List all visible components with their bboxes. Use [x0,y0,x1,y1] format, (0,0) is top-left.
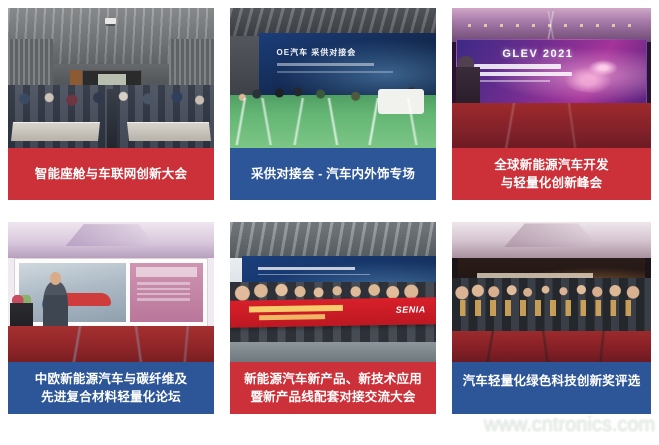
slide-bullet-4 [137,298,189,300]
slide-text-panel [130,263,203,322]
ceiling-fan-detail [520,11,584,39]
keynote-speaker-stage-photo[interactable] [8,222,214,362]
gallery-card-6-caption-text: 汽车轻量化绿色科技创新奖评选 [458,372,645,390]
matchmaking-session-photo[interactable]: OE汽车 采供对接会 [230,8,436,148]
gallery-card-1-caption-text: 智能座舱与车联网创新大会 [14,165,208,183]
slide-bullet-2 [137,288,189,290]
gallery-card-3[interactable]: GLEV 2021 全球新能源汽车开发 与轻量化创新峰会 [452,8,651,207]
group-photo-red-banner[interactable]: SENIA [230,222,436,362]
gallery-card-1[interactable]: 智能座舱与车联网创新大会 [8,8,214,207]
front-desk-left [11,122,100,141]
exhibition-floor [230,342,436,362]
red-ceremony-banner: SENIA [230,297,436,327]
projector-icon [105,18,116,24]
slide-bullet-3 [137,293,189,295]
glev-2021-stage-photo[interactable]: GLEV 2021 [452,8,651,148]
gallery-card-3-caption-line-2: 与轻量化创新峰会 [458,174,645,192]
gallery-card-4[interactable]: 中欧新能源汽车与碳纤维及 先进复合材料轻量化论坛 [8,222,214,421]
gallery-card-4-caption-line-2: 先进复合材料轻量化论坛 [14,388,208,406]
screen-graphic-swirl [555,51,638,92]
conference-hall-audience-photo[interactable] [8,8,214,148]
gallery-card-5[interactable]: SENIA 新能源汽车新产品、新技术应用 暨新产品线配套对接交流大会 [230,222,436,421]
gallery-card-3-caption-line-1: 全球新能源汽车开发 [458,156,645,174]
red-stage-floor [452,103,651,148]
gallery-card-6-caption[interactable]: 汽车轻量化绿色科技创新奖评选 [452,362,651,414]
gallery-card-2-caption-text: 采供对接会 - 汽车内外饰专场 [236,165,430,183]
backdrop-headline-text: OE汽车 采供对接会 [277,47,357,58]
gallery-card-5-caption-line-1: 新能源汽车新产品、新技术应用 [236,370,430,388]
gallery-card-4-caption-text: 中欧新能源汽车与碳纤维及 先进复合材料轻量化论坛 [14,370,208,406]
gallery-card-3-caption[interactable]: 全球新能源汽车开发 与轻量化创新峰会 [452,148,651,200]
slide-title-bar [136,267,197,276]
gallery-card-2[interactable]: OE汽车 采供对接会 采供对接会 - 汽车内外饰专场 [230,8,436,207]
ballroom-ceiling [452,222,651,258]
banner-subline [259,315,325,321]
folding-chairs [230,98,436,146]
gallery-card-2-caption[interactable]: 采供对接会 - 汽车内外饰专场 [230,148,436,200]
front-desk-right [126,122,210,141]
banner-headline [248,305,343,312]
backdrop-subline [258,274,370,275]
gallery-card-5-caption-text: 新能源汽车新产品、新技术应用 暨新产品线配套对接交流大会 [236,370,430,406]
glev-title-text: GLEV 2021 [502,48,573,60]
gallery-card-4-caption-line-1: 中欧新能源汽车与碳纤维及 [14,370,208,388]
hall-roof-trusses [230,222,436,258]
gallery-card-1-caption[interactable]: 智能座舱与车联网创新大会 [8,148,214,200]
award-ceremony-group-photo[interactable] [452,222,651,362]
screen-subline [474,80,550,82]
gallery-card-5-caption[interactable]: 新能源汽车新产品、新技术应用 暨新产品线配套对接交流大会 [230,362,436,414]
site-watermark: www.cntronics.com [484,414,655,437]
screen-headline-line-1 [474,64,561,69]
backdrop-subline-2 [277,71,394,73]
backdrop-subline-1 [277,63,374,66]
center-aisle [107,89,117,148]
red-stage-floor [8,326,214,362]
gallery-card-6[interactable]: 汽车轻量化绿色科技创新奖评选 [452,222,651,421]
ballroom-ceiling [8,222,214,258]
banner-brand-text: SENIA [396,304,426,315]
held-award-plaques [460,300,639,315]
gallery-card-5-caption-line-2: 暨新产品线配套对接交流大会 [236,388,430,406]
backdrop-headline [258,267,355,270]
led-stage-screen: GLEV 2021 [456,39,647,105]
gallery-card-3-caption-text: 全球新能源汽车开发 与轻量化创新峰会 [458,156,645,192]
event-photo-gallery: 智能座舱与车联网创新大会 OE汽车 采供对接会 采供对接会 - 汽车内外饰专场 [0,0,659,445]
slide-bullet-1 [137,282,189,284]
slide-vehicle-image [19,263,126,322]
red-stage-floor [452,331,651,362]
gallery-card-4-caption[interactable]: 中欧新能源汽车与碳纤维及 先进复合材料轻量化论坛 [8,362,214,414]
